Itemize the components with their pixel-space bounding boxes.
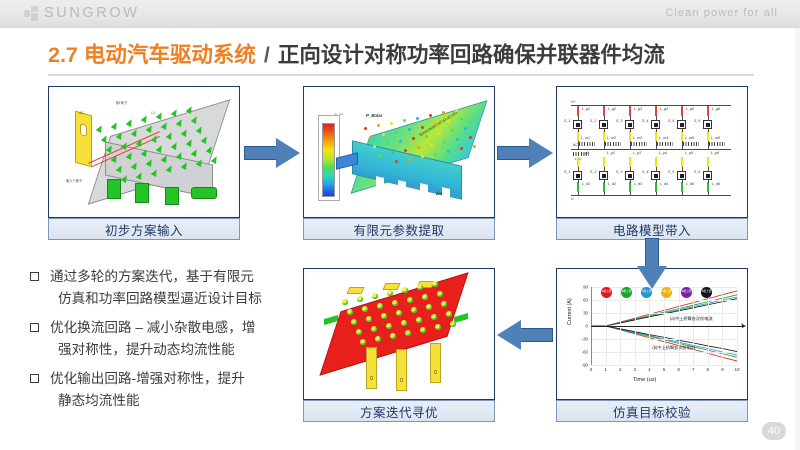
label-s-bot-3: S_4: [642, 170, 648, 174]
power-device: [417, 284, 423, 290]
label-lg-0: L_g1: [582, 107, 590, 111]
panel-circuit-model[interactable]: V+V-ACL_sL_g1S_1L_m1L_p1S_1L_d1L_g2S_2L_…: [556, 86, 748, 218]
wire-v-b3-2: [630, 192, 631, 195]
ytick-label: 30: [583, 311, 588, 316]
power-device: [362, 306, 368, 312]
power-device: [387, 290, 393, 296]
fem-node: [408, 158, 411, 161]
wire-v-t2-0: [578, 129, 579, 132]
square-bullet-icon: [30, 272, 39, 281]
label-s-top-3: S_4: [642, 119, 648, 123]
device-bot-blk-4: [680, 174, 684, 178]
fem-label-title: P_Balar: [366, 113, 382, 118]
title-secondary: 正向设计对称功率回路确保并联器件均流: [278, 43, 665, 67]
inductor-bar-midtop-1: [603, 131, 605, 141]
power-device: [377, 303, 383, 309]
label-lm2-3: L_p4: [659, 151, 667, 155]
label-lm2-0: L_p1: [581, 151, 589, 155]
wire-v-b-4: [682, 167, 683, 172]
label-ld-3: L_d4: [660, 182, 668, 186]
panel-initial-design[interactable]: 第1管子 L3 第六个管子 AC: [48, 86, 240, 218]
inductor-bar-top-5: [707, 106, 709, 116]
fem-node: [408, 128, 411, 131]
wire-v-b-5: [708, 167, 709, 172]
power-device: [381, 313, 387, 319]
title-number: 2.7: [48, 43, 78, 67]
xtick-label: 6: [677, 367, 680, 372]
label-lm2-1: L_p2: [607, 151, 615, 155]
top-tab-1: [346, 287, 364, 294]
device-bot-blk-5: [706, 174, 710, 178]
inductor-bar-midbot-1: [603, 157, 605, 167]
sungrow-logo-icon: [24, 6, 39, 21]
inductor-bar-bot-0: [577, 182, 579, 192]
label-s-bot-2: S_3: [616, 170, 622, 174]
caption-circuit-model: 电路模型带入: [556, 218, 748, 240]
fem-node: [378, 154, 381, 157]
label-lm-5: L_m6: [711, 136, 720, 140]
support-post-3: [430, 343, 441, 383]
fem-node: [369, 136, 372, 139]
inductor-bar-top-1: [603, 106, 605, 116]
inductor-bar-midtop-2: [629, 131, 631, 141]
wire-v-t-5: [708, 116, 709, 121]
panel2-canvas: mt : hmt P_Balar Sources(a1,a2:a1,a2,a1)…: [308, 91, 490, 213]
current-arrow: [211, 155, 220, 164]
fem-node: [460, 118, 463, 121]
caption-simulation-verification: 仿真目标校验: [556, 400, 748, 422]
wire-v-t2-3: [656, 129, 657, 132]
wire-v-b3-4: [682, 192, 683, 195]
label-lg-4: L_g5: [686, 107, 694, 111]
fem-node: [473, 145, 476, 148]
power-device: [450, 321, 456, 327]
list-item: 优化输出回路-增强对称性，提升 静态均流性能: [28, 368, 292, 412]
inductor-bar-bot-3: [655, 182, 657, 192]
ytick-label: 90: [583, 285, 588, 290]
panel1-label-2: 第六个管子: [66, 179, 82, 184]
label-lm-4: L_m5: [685, 136, 694, 140]
list-item: 优化换流回路 – 减小杂散电感，增 强对称性，提升动态均流性能: [28, 317, 292, 361]
panel1-canvas: 第1管子 L3 第六个管子 AC: [53, 91, 235, 213]
inductor-bar-top-4: [681, 106, 683, 116]
power-device: [435, 324, 441, 330]
xtick-label: 3: [634, 367, 637, 372]
power-device: [396, 310, 402, 316]
inductor-bar-midbot-4: [681, 157, 683, 167]
bullet-line-1: 通过多轮的方案迭代，基于有限元: [50, 269, 254, 284]
label-lg-3: L_g4: [660, 107, 668, 111]
bullet-line-1: 优化输出回路-增强对称性，提升: [50, 371, 245, 386]
xtick-label: 5: [663, 367, 666, 372]
label-lm-1: L_m2: [607, 136, 616, 140]
x-axis-zero: [591, 326, 743, 327]
device-top-blk-5: [706, 123, 710, 127]
fem-node: [417, 146, 420, 149]
support-post-1: [366, 347, 377, 389]
gridline-h: [591, 339, 737, 340]
inductor-bar-midtop-4: [681, 131, 683, 141]
fem-node: [399, 140, 402, 143]
rail-bottom: [571, 195, 731, 196]
fem-node: [390, 122, 393, 125]
xtick-label: 10: [734, 367, 739, 372]
chart-xlabel: Time (us): [633, 377, 656, 383]
xtick-label: 2: [619, 367, 622, 372]
wire-v-b2-1: [604, 180, 605, 183]
ytick-label: -90: [582, 363, 588, 368]
label-lm2-2: L_p3: [633, 151, 641, 155]
label-lm-3: L_m4: [659, 136, 668, 140]
xtick-label: 4: [648, 367, 651, 372]
power-device: [405, 330, 411, 336]
power-device: [366, 316, 372, 322]
fem-notch: [420, 183, 428, 195]
wire-v-b-2: [630, 167, 631, 172]
inductor-bar-bot-5: [707, 182, 709, 192]
title-bar: 2.7 电动汽车驱动系统 / 正向设计对称功率回路确保并联器件均流: [0, 38, 800, 74]
plate-edge-right: [454, 313, 468, 323]
page-number: 40: [762, 422, 786, 440]
wire-v-t2-5: [708, 129, 709, 132]
fem-node: [416, 117, 419, 120]
fem-node: [382, 163, 385, 166]
gridline-h: [591, 365, 737, 366]
caption-fem-extraction: 有限元参数提取: [303, 218, 495, 240]
mid-inductor-2: [631, 142, 647, 146]
power-device: [437, 291, 443, 297]
label-ld-2: L_d3: [634, 182, 642, 186]
rail-top-label: V+: [571, 100, 576, 104]
chart-annotation-1: (b)中上桥臂各次阶电流: [652, 345, 695, 351]
fem-node: [373, 145, 376, 148]
power-device: [371, 326, 377, 332]
fem-notch: [376, 176, 384, 188]
ytick-label: 60: [583, 298, 588, 303]
mount-foot-2: [135, 183, 149, 203]
bullet-line-2: 静态均流性能: [50, 390, 292, 412]
caption-initial-design: 初步方案输入: [48, 218, 240, 240]
power-device: [401, 320, 407, 326]
device-top-blk-2: [628, 123, 632, 127]
fem-node: [455, 109, 458, 112]
wire-v-b3-1: [604, 192, 605, 195]
mid-inductor-5: [709, 142, 725, 146]
right-edge-strip: [795, 28, 800, 450]
label-s-top-2: S_3: [616, 119, 622, 123]
title-separator: /: [262, 43, 272, 67]
wire-v-t-1: [604, 116, 605, 121]
label-lm2-5: L_p6: [711, 151, 719, 155]
slide-canvas: SUNGROW Clean power for all 2.7 电动汽车驱动系统…: [0, 0, 800, 450]
wire-v-t2-4: [682, 129, 683, 132]
legend-dot-0: A相上管: [601, 287, 612, 298]
inductor-bar-midtop-0: [577, 131, 579, 141]
power-device: [372, 293, 378, 299]
fem-node: [443, 141, 446, 144]
inductor-bar-midtop-3: [655, 131, 657, 141]
mount-foot-3: [165, 187, 179, 205]
panel5-canvas: [308, 273, 490, 395]
mount-foot-1: [107, 179, 121, 199]
wire-v-b2-0: [578, 180, 579, 183]
label-s-bot-5: S_6: [694, 170, 700, 174]
label-s-top-4: S_5: [668, 119, 674, 123]
power-device: [390, 333, 396, 339]
power-device: [416, 317, 422, 323]
gridline-h: [591, 300, 737, 301]
chart-annotation-0: (a)中上桥臂各次阶电流: [670, 316, 713, 322]
fem-node: [395, 131, 398, 134]
title-underline: [48, 74, 754, 76]
current-arrow: [96, 124, 105, 133]
current-chart: Current (A) Time (us) 012345678910906030…: [561, 273, 743, 395]
power-device: [446, 311, 452, 317]
wire-v-t-4: [682, 116, 683, 121]
power-device: [351, 319, 357, 325]
terminal-tab-yellow: [75, 111, 92, 168]
power-device: [392, 300, 398, 306]
fem-legend-title: mt : hmt: [334, 113, 343, 117]
power-device: [347, 309, 353, 315]
label-ld-5: L_d6: [712, 182, 720, 186]
legend-dot-1: B相上管: [621, 287, 632, 298]
panel-fem-extraction[interactable]: mt : hmt P_Balar Sources(a1,a2:a1,a2,a1)…: [303, 86, 495, 218]
inductor-bar-midbot-0: [577, 157, 579, 167]
device-top-blk-1: [602, 123, 606, 127]
label-s-bot-4: S_5: [668, 170, 674, 174]
label-lm2-4: L_p5: [685, 151, 693, 155]
gridline-h: [591, 352, 737, 353]
fem-node: [403, 119, 406, 122]
title-primary: 电动汽车驱动系统: [84, 43, 256, 67]
power-device: [426, 304, 432, 310]
fem-colorbar: [322, 123, 335, 197]
fem-node: [364, 127, 367, 130]
inductor-bar-midtop-5: [707, 131, 709, 141]
support-post-2: [396, 349, 407, 391]
wire-v-b-0: [578, 167, 579, 172]
mid-inductor-1: [605, 142, 621, 146]
xtick-label: 1: [604, 367, 607, 372]
fem-node: [447, 150, 450, 153]
power-device: [356, 329, 362, 335]
wire-v-t-3: [656, 116, 657, 121]
label-s-top-1: S_2: [590, 119, 596, 123]
label-lm-0: L_m1: [581, 136, 590, 140]
list-item: 通过多轮的方案迭代，基于有限元 仿真和功率回路模型逼近设计目标: [28, 266, 292, 310]
mid-inductor-4: [683, 142, 699, 146]
device-top-blk-4: [680, 123, 684, 127]
bullet-line-1: 优化换流回路 – 减小杂散电感，增: [50, 320, 255, 335]
inductor-bar-midbot-3: [655, 157, 657, 167]
arrow-p2-to-p3: [497, 138, 553, 168]
device-top-blk-3: [654, 123, 658, 127]
ytick-label: -60: [582, 350, 588, 355]
gridline-h: [591, 313, 737, 314]
xtick-label: 0: [590, 367, 593, 372]
wire-v-t2-2: [630, 129, 631, 132]
device-bot-blk-0: [576, 174, 580, 178]
wire-v-t-0: [578, 116, 579, 121]
fem-node: [434, 153, 437, 156]
xtick-label: 8: [707, 367, 710, 372]
slide-header: SUNGROW Clean power for all: [0, 0, 800, 28]
current-arrow: [141, 114, 150, 123]
power-device: [420, 327, 426, 333]
power-device: [422, 294, 428, 300]
inductor-bar-bot-2: [629, 182, 631, 192]
current-arrow: [111, 121, 120, 130]
fem-node: [464, 127, 467, 130]
ytick-label: -30: [582, 337, 588, 342]
panel3-canvas: V+V-ACL_sL_g1S_1L_m1L_p1S_1L_d1L_g2S_2L_…: [561, 91, 743, 213]
power-device: [402, 287, 408, 293]
label-s-top-5: S_6: [694, 119, 700, 123]
fem-node: [434, 123, 437, 126]
wire-v-b-3: [656, 167, 657, 172]
mid-inductor-3: [657, 142, 673, 146]
wire-v-b3-5: [708, 192, 709, 195]
power-device: [432, 281, 438, 287]
power-device: [386, 323, 392, 329]
arrow-p3-to-p4: [637, 238, 667, 288]
inductor-bar-midbot-5: [707, 157, 709, 167]
inductor-bar-bot-1: [603, 182, 605, 192]
chart-plot-area: 0123456789109060300-30-60-90 A相上管B相上管C相上…: [591, 287, 737, 365]
brand-name: SUNGROW: [44, 5, 140, 21]
wire-v-b2-3: [656, 180, 657, 183]
power-device: [357, 296, 363, 302]
brand-tagline: Clean power for all: [665, 7, 778, 19]
legend-dot-5: F相上管: [701, 287, 712, 298]
wire-v-b2-2: [630, 180, 631, 183]
fem-node: [429, 114, 432, 117]
label-lm-2: L_m3: [633, 136, 642, 140]
power-device: [441, 301, 447, 307]
current-arrow: [126, 118, 135, 127]
mid-inductor-0: [579, 142, 595, 146]
legend-dot-4: E相上管: [681, 287, 692, 298]
wire-v-b2-4: [682, 180, 683, 183]
xtick-label: 9: [721, 367, 724, 372]
power-device: [407, 297, 413, 303]
fem-notch: [442, 187, 450, 199]
caption-design-iteration: 方案迭代寻优: [303, 400, 495, 422]
label-s-bot-0: S_1: [564, 170, 570, 174]
wire-v-b3-0: [578, 192, 579, 195]
device-bot-blk-3: [654, 174, 658, 178]
square-bullet-icon: [30, 374, 39, 383]
chart-annotation-2: t: [741, 322, 742, 327]
bullet-line-2: 强对称性，提升动态均流性能: [50, 339, 292, 361]
power-device: [360, 339, 366, 345]
mount-bracket: [191, 187, 217, 199]
wire-v-t2-1: [604, 129, 605, 132]
label-lg-5: L_g6: [712, 107, 720, 111]
fem-node: [425, 135, 428, 138]
power-device: [375, 336, 381, 342]
panel1-label-1: L3: [151, 111, 155, 115]
label-s-top-0: S_1: [564, 119, 570, 123]
label-lg-1: L_g2: [608, 107, 616, 111]
top-tab-2: [382, 283, 400, 290]
wire-v-b2-5: [708, 180, 709, 183]
fem-node: [430, 144, 433, 147]
label-lg-2: L_g3: [634, 107, 642, 111]
inductor-bar-top-2: [629, 106, 631, 116]
brand-logo: SUNGROW: [24, 5, 140, 21]
inductor-bar-top-3: [655, 106, 657, 116]
inductor-bar-bot-4: [681, 182, 683, 192]
label-s-bot-1: S_2: [590, 170, 596, 174]
fem-node: [404, 149, 407, 152]
wire-v-t-2: [630, 116, 631, 121]
label-ld-1: L_d2: [608, 182, 616, 186]
panel1-label-0: 第1管子: [116, 101, 128, 106]
bullet-list: 通过多轮的方案迭代，基于有限元 仿真和功率回路模型逼近设计目标 优化换流回路 –…: [28, 266, 292, 419]
arrow-p4-to-p5: [497, 320, 553, 350]
page-title: 2.7 电动汽车驱动系统 / 正向设计对称功率回路确保并联器件均流: [48, 38, 665, 72]
power-device: [342, 299, 348, 305]
device-bot-blk-1: [602, 174, 606, 178]
rail-bottom-label: V-: [571, 197, 574, 201]
xtick-label: 7: [692, 367, 695, 372]
panel-design-iteration[interactable]: [303, 268, 495, 400]
power-device: [411, 307, 417, 313]
wire-v-b-1: [604, 167, 605, 172]
fem-node: [438, 132, 441, 135]
ytick-label: 0: [586, 324, 588, 329]
fem-node: [377, 124, 380, 127]
power-device: [431, 314, 437, 320]
fem-node: [469, 136, 472, 139]
inductor-bar-top-0: [577, 106, 579, 116]
bullet-line-2: 仿真和功率回路模型逼近设计目标: [50, 288, 292, 310]
fem-node: [421, 126, 424, 129]
device-bot-blk-2: [628, 174, 632, 178]
label-ld-4: L_d5: [686, 182, 694, 186]
wire-v-b3-3: [656, 192, 657, 195]
chart-ylabel: Current (A): [567, 298, 573, 325]
arrow-p1-to-p2: [244, 138, 300, 168]
fem-notch: [398, 180, 406, 192]
device-top-blk-0: [576, 123, 580, 127]
square-bullet-icon: [30, 323, 39, 332]
label-ld-0: L_d1: [582, 182, 590, 186]
inductor-bar-midbot-2: [629, 157, 631, 167]
panel1-label-3: AC: [79, 111, 84, 115]
